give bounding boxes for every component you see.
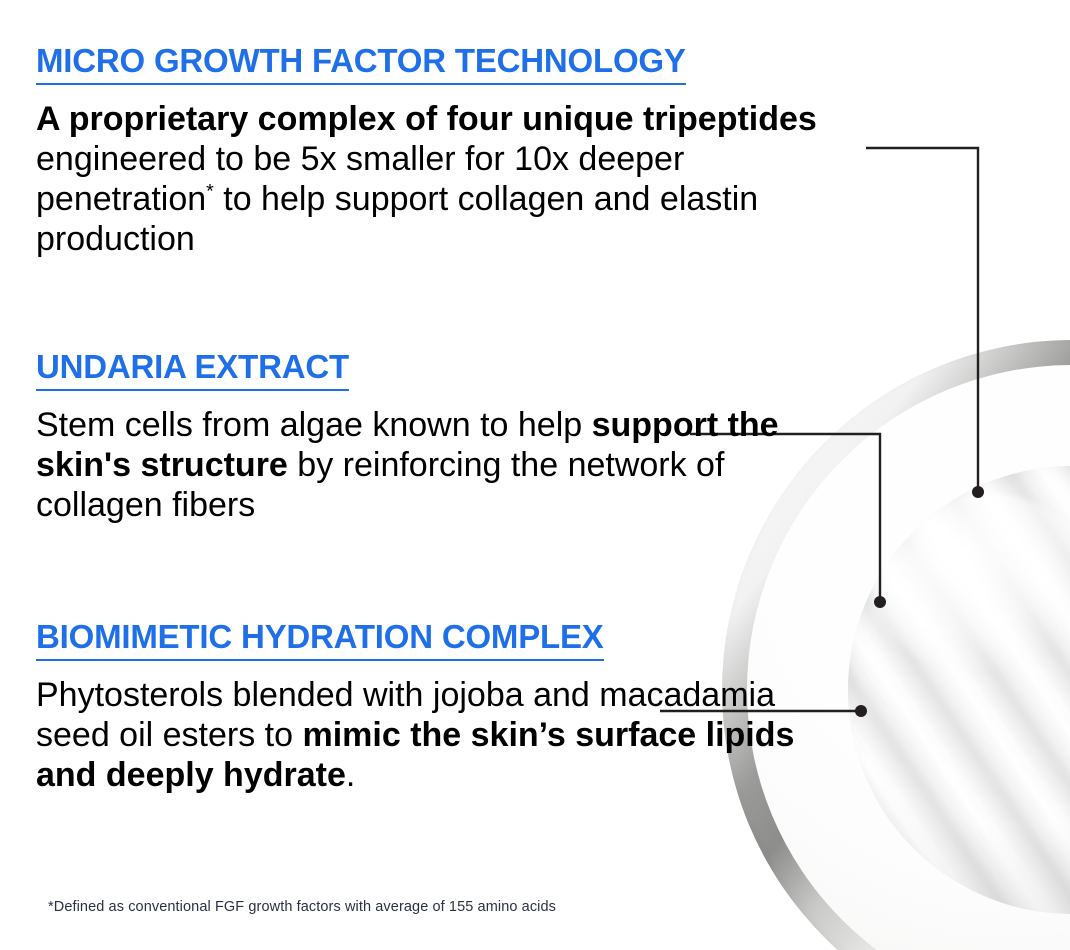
section-body-biomimetic-hydration-complex: Phytosterols blended with jojoba and mac…: [36, 675, 836, 795]
jar-cream-surface: [848, 466, 1070, 914]
section-heading-micro-growth-factor-technology: MICRO GROWTH FACTOR TECHNOLOGY: [36, 44, 686, 85]
section-heading-biomimetic-hydration-complex: BIOMIMETIC HYDRATION COMPLEX: [36, 620, 604, 661]
footnote-text: *Defined as conventional FGF growth fact…: [48, 899, 556, 915]
section-heading-undaria-extract: UNDARIA EXTRACT: [36, 350, 349, 391]
section-undaria-extract: UNDARIA EXTRACT Stem cells from algae kn…: [36, 350, 836, 525]
section-body-micro-growth-factor-technology: A proprietary complex of four unique tri…: [36, 99, 836, 259]
section-body-undaria-extract: Stem cells from algae known to help supp…: [36, 405, 836, 525]
section-micro-growth-factor-technology: MICRO GROWTH FACTOR TECHNOLOGY A proprie…: [36, 44, 836, 259]
infographic-canvas: MICRO GROWTH FACTOR TECHNOLOGY A proprie…: [0, 0, 1070, 950]
section-biomimetic-hydration-complex: BIOMIMETIC HYDRATION COMPLEX Phytosterol…: [36, 620, 836, 795]
